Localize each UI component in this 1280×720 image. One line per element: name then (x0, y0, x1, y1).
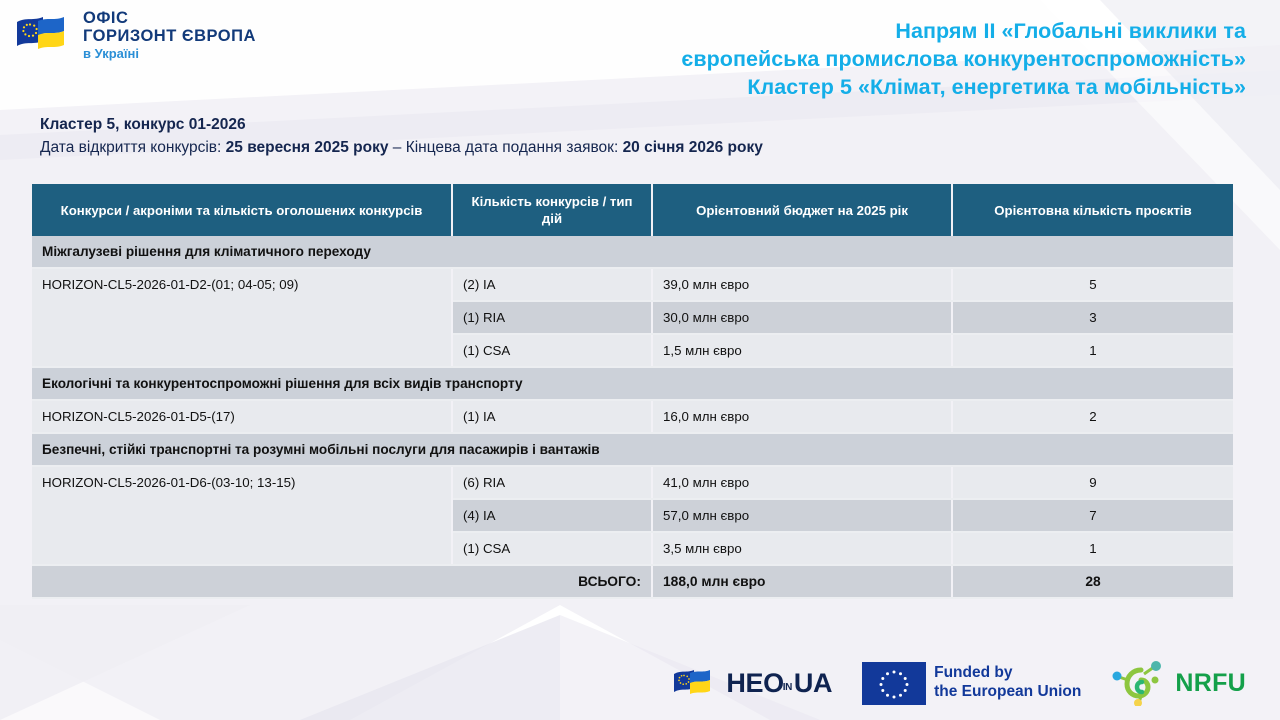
date-dash: – (388, 139, 405, 156)
projects-count-cell: 7 (952, 499, 1233, 532)
eu-flag-icon (862, 662, 926, 705)
subtitle-block: Кластер 5, конкурс 01-2026 Дата відкритт… (40, 114, 763, 159)
logo-wordmark: ОФІС ГОРИЗОНТ ЄВРОПА в Україні (83, 10, 256, 60)
title-line-2: європейська промислова конкурентоспромож… (506, 46, 1246, 74)
total-budget: 188,0 млн євро (652, 565, 952, 598)
heo-in-ua-logo: HEOINUA (672, 666, 832, 700)
projects-count-cell: 1 (952, 334, 1233, 367)
projects-count-cell: 5 (952, 268, 1233, 301)
cluster-call-line: Кластер 5, конкурс 01-2026 (40, 114, 763, 135)
title-line-3: Кластер 5 «Клімат, енергетика та мобільн… (506, 74, 1246, 102)
budget-cell: 39,0 млн євро (652, 268, 952, 301)
open-date-value: 25 вересня 2025 року (226, 139, 389, 156)
nrfu-molecule-icon (1111, 660, 1167, 706)
table-row: HORIZON-CL5-2026-01-D5-(17)(1) IA16,0 мл… (32, 400, 1233, 433)
budget-cell: 41,0 млн євро (652, 466, 952, 499)
table-section-row: Міжгалузеві рішення для кліматичного пер… (32, 236, 1233, 268)
table-row: HORIZON-CL5-2026-01-D2-(01; 04-05; 09)(2… (32, 268, 1233, 301)
call-type-cell: (2) IA (452, 268, 652, 301)
logo-line-1: ОФІС (83, 10, 256, 27)
projects-count-cell: 1 (952, 532, 1233, 565)
table-head: Конкурси / акроніми та кількість оголоше… (32, 184, 1233, 236)
table-section-row: Екологічні та конкурентоспроможні рішенн… (32, 367, 1233, 400)
call-type-cell: (6) RIA (452, 466, 652, 499)
budget-cell: 16,0 млн євро (652, 400, 952, 433)
heo-wordmark: HEOINUA (726, 668, 832, 699)
column-header-calls: Конкурси / акроніми та кількість оголоше… (32, 184, 452, 236)
budget-cell: 3,5 млн євро (652, 532, 952, 565)
call-acronym-cell: HORIZON-CL5-2026-01-D5-(17) (32, 400, 452, 433)
footer-logos: HEOINUA Funded by the European Union (0, 660, 1280, 706)
call-type-cell: (1) RIA (452, 301, 652, 334)
budget-cell: 1,5 млн євро (652, 334, 952, 367)
projects-count-cell: 9 (952, 466, 1233, 499)
call-type-cell: (1) CSA (452, 532, 652, 565)
open-date-label: Дата відкриття конкурсів: (40, 139, 226, 156)
title-line-1: Напрям II «Глобальні виклики та (506, 18, 1246, 46)
deadline-label: Кінцева дата подання заявок: (406, 139, 623, 156)
total-projects: 28 (952, 565, 1233, 598)
logo-line-3: в Україні (83, 47, 256, 60)
column-header-type: Кількість конкурсів / тип дій (452, 184, 652, 236)
logo-flags (14, 12, 74, 58)
logo-line-2: ГОРИЗОНТ ЄВРОПА (83, 28, 256, 45)
eu-line-2: the European Union (934, 683, 1081, 700)
calls-table: Конкурси / акроніми та кількість оголоше… (32, 184, 1233, 599)
slide-title: Напрям II «Глобальні виклики та європейс… (506, 18, 1246, 102)
slide-root: ОФІС ГОРИЗОНТ ЄВРОПА в Україні Напрям II… (0, 0, 1280, 720)
deadline-value: 20 січня 2026 року (623, 139, 763, 156)
total-label: ВСЬОГО: (32, 565, 652, 598)
column-header-budget: Орієнтовний бюджет на 2025 рік (652, 184, 952, 236)
call-acronym-cell: HORIZON-CL5-2026-01-D6-(03-10; 13-15) (32, 466, 452, 565)
heo-main: HEO (726, 668, 783, 699)
horizon-europe-office-logo: ОФІС ГОРИЗОНТ ЄВРОПА в Україні (14, 10, 256, 60)
call-type-cell: (4) IA (452, 499, 652, 532)
heo-tail: UA (794, 668, 832, 699)
funded-by-eu-logo: Funded by the European Union (862, 662, 1081, 705)
column-header-projects: Орієнтовна кількість проєктів (952, 184, 1233, 236)
projects-count-cell: 3 (952, 301, 1233, 334)
budget-cell: 30,0 млн євро (652, 301, 952, 334)
funded-by-eu-text: Funded by the European Union (934, 664, 1081, 701)
call-type-cell: (1) CSA (452, 334, 652, 367)
heo-flags-icon (672, 666, 718, 700)
budget-cell: 57,0 млн євро (652, 499, 952, 532)
table-row: HORIZON-CL5-2026-01-D6-(03-10; 13-15)(6)… (32, 466, 1233, 499)
call-acronym-cell: HORIZON-CL5-2026-01-D2-(01; 04-05; 09) (32, 268, 452, 367)
section-title: Міжгалузеві рішення для кліматичного пер… (32, 236, 1233, 268)
table-section-row: Безпечні, стійкі транспортні та розумні … (32, 433, 1233, 466)
section-title: Екологічні та конкурентоспроможні рішенн… (32, 367, 1233, 400)
eu-line-1: Funded by (934, 664, 1012, 681)
call-type-cell: (1) IA (452, 400, 652, 433)
projects-count-cell: 2 (952, 400, 1233, 433)
nrfu-wordmark: NRFU (1175, 669, 1246, 698)
table-body: Міжгалузеві рішення для кліматичного пер… (32, 236, 1233, 598)
nrfu-logo: NRFU (1111, 660, 1246, 706)
table-total-row: ВСЬОГО:188,0 млн євро28 (32, 565, 1233, 598)
table-header-row: Конкурси / акроніми та кількість оголоше… (32, 184, 1233, 236)
ukraine-flag-icon (38, 17, 64, 49)
section-title: Безпечні, стійкі транспортні та розумні … (32, 433, 1233, 466)
dates-line: Дата відкриття конкурсів: 25 вересня 202… (40, 137, 763, 158)
heo-sub: IN (783, 682, 792, 693)
